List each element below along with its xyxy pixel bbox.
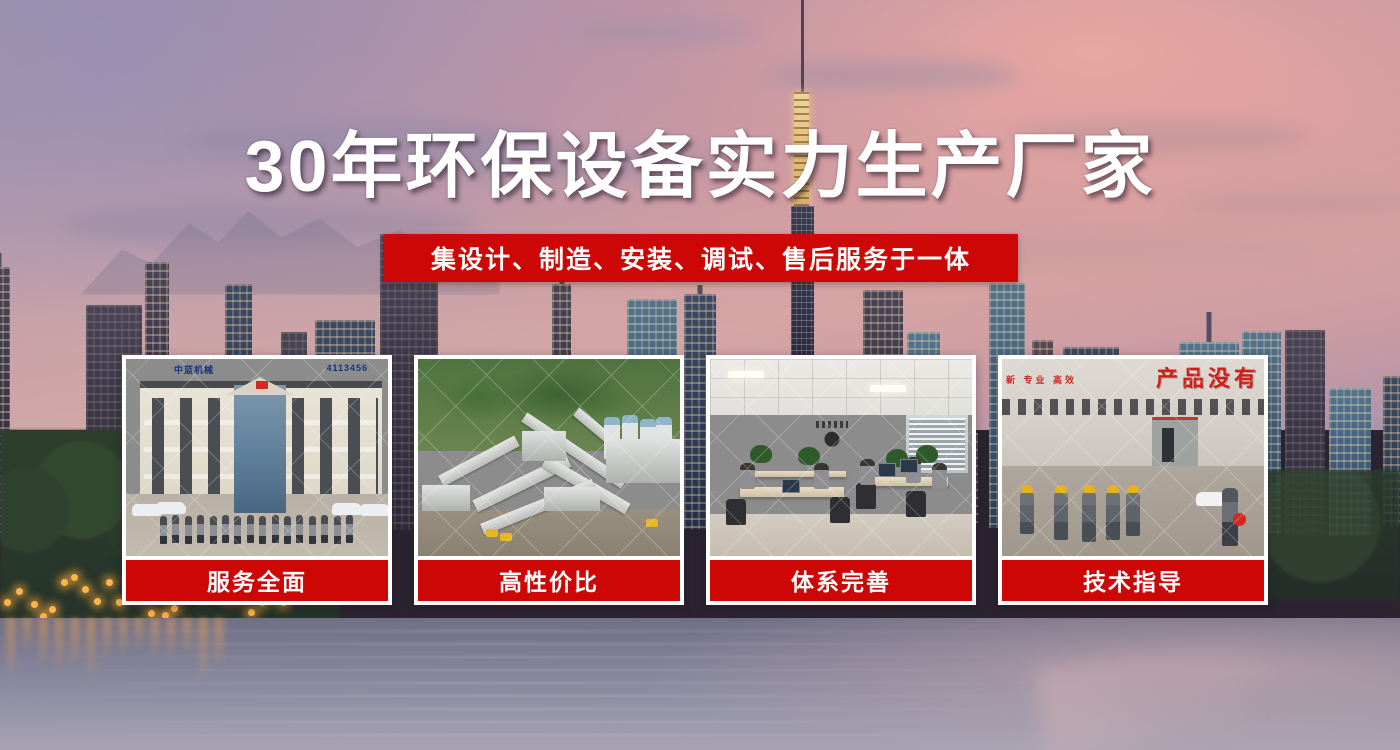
wall-decal	[814, 421, 850, 447]
staff-member	[234, 516, 241, 544]
office-chair	[830, 497, 850, 523]
plant-building	[422, 485, 470, 511]
excavator	[646, 519, 658, 527]
office-chair	[906, 491, 926, 517]
promotional-banner: 30年环保设备实力生产厂家 集设计、制造、安装、调试、售后服务于一体 中蓝机械 …	[0, 0, 1400, 750]
worker	[1020, 492, 1034, 534]
safety-helmet	[1055, 485, 1067, 493]
card-caption: 技术指导	[1002, 560, 1264, 601]
plant-building	[522, 431, 566, 461]
plant-yard	[418, 510, 680, 556]
seated-employee	[932, 463, 947, 489]
red-helmet-held	[1233, 513, 1246, 526]
staff-member	[296, 515, 303, 543]
plant-building	[606, 439, 680, 483]
staff-member	[210, 516, 217, 544]
safety-helmet	[1127, 485, 1139, 493]
factory-door	[1152, 417, 1198, 471]
computer-monitor	[782, 479, 800, 493]
seated-employee	[814, 463, 829, 489]
seated-employee	[740, 463, 755, 489]
staff-member	[346, 515, 353, 543]
office-desk	[754, 471, 846, 477]
banner-content: 30年环保设备实力生产厂家 集设计、制造、安装、调试、售后服务于一体 中蓝机械 …	[0, 0, 1400, 750]
feature-card[interactable]: 体系完善	[706, 355, 976, 605]
card-photo-headquarters: 中蓝机械 4113456	[126, 359, 388, 556]
plant-building	[544, 487, 600, 511]
ceiling-light	[728, 371, 764, 378]
office-plant	[750, 445, 772, 463]
parked-car	[156, 502, 186, 514]
safety-helmet	[1021, 485, 1033, 493]
feature-card[interactable]: 产品没有 新 专业 高效 技术指导	[998, 355, 1268, 605]
card-caption: 高性价比	[418, 560, 680, 601]
building-glass-atrium	[234, 385, 286, 513]
staff-member	[284, 516, 291, 544]
office-ceiling	[710, 359, 972, 415]
staff-member	[334, 516, 341, 544]
ceiling-light	[870, 385, 906, 392]
seated-employee	[860, 459, 875, 485]
worker	[1126, 492, 1140, 536]
feature-card[interactable]: 中蓝机械 4113456 服务全面	[122, 355, 392, 605]
worker	[1082, 492, 1096, 542]
staff-member	[185, 516, 192, 544]
factory-slogan-small: 新 专业 高效	[1006, 373, 1077, 386]
card-photo-workers: 产品没有 新 专业 高效	[1002, 359, 1264, 556]
computer-monitor	[878, 463, 896, 477]
computer-monitor	[900, 459, 918, 473]
worker	[1054, 492, 1068, 540]
staff-member	[272, 515, 279, 543]
national-flag	[256, 381, 268, 389]
page-title: 30年环保设备实力生产厂家	[0, 131, 1400, 203]
safety-helmet	[1107, 485, 1119, 493]
office-chair	[726, 499, 746, 525]
excavator	[500, 533, 512, 541]
staff-member	[172, 515, 179, 543]
parked-car	[360, 504, 388, 516]
excavator	[486, 529, 498, 537]
staff-member	[321, 515, 328, 543]
worker	[1106, 492, 1120, 540]
parked-car	[332, 503, 362, 515]
card-caption: 体系完善	[710, 560, 972, 601]
card-caption: 服务全面	[126, 560, 388, 601]
safety-helmet	[1083, 485, 1095, 493]
staff-member	[259, 516, 266, 544]
feature-card[interactable]: 高性价比	[414, 355, 684, 605]
subtitle-bar: 集设计、制造、安装、调试、售后服务于一体	[384, 234, 1018, 282]
staff-member	[309, 516, 316, 544]
office-plant	[798, 447, 820, 465]
office-chair	[856, 483, 876, 509]
staff-member	[160, 516, 167, 544]
staff-member	[247, 515, 254, 543]
card-photo-plant	[418, 359, 680, 556]
building-phone-number: 4113456	[326, 363, 368, 373]
building-signage: 中蓝机械	[174, 363, 214, 376]
subtitle-text: 集设计、制造、安装、调试、售后服务于一体	[431, 240, 971, 276]
card-photo-office	[710, 359, 972, 556]
staff-member	[222, 515, 229, 543]
factory-slogan-large: 产品没有	[1156, 361, 1260, 393]
feature-card-list: 中蓝机械 4113456 服务全面 高性价比	[122, 355, 1278, 605]
staff-member	[197, 515, 204, 543]
